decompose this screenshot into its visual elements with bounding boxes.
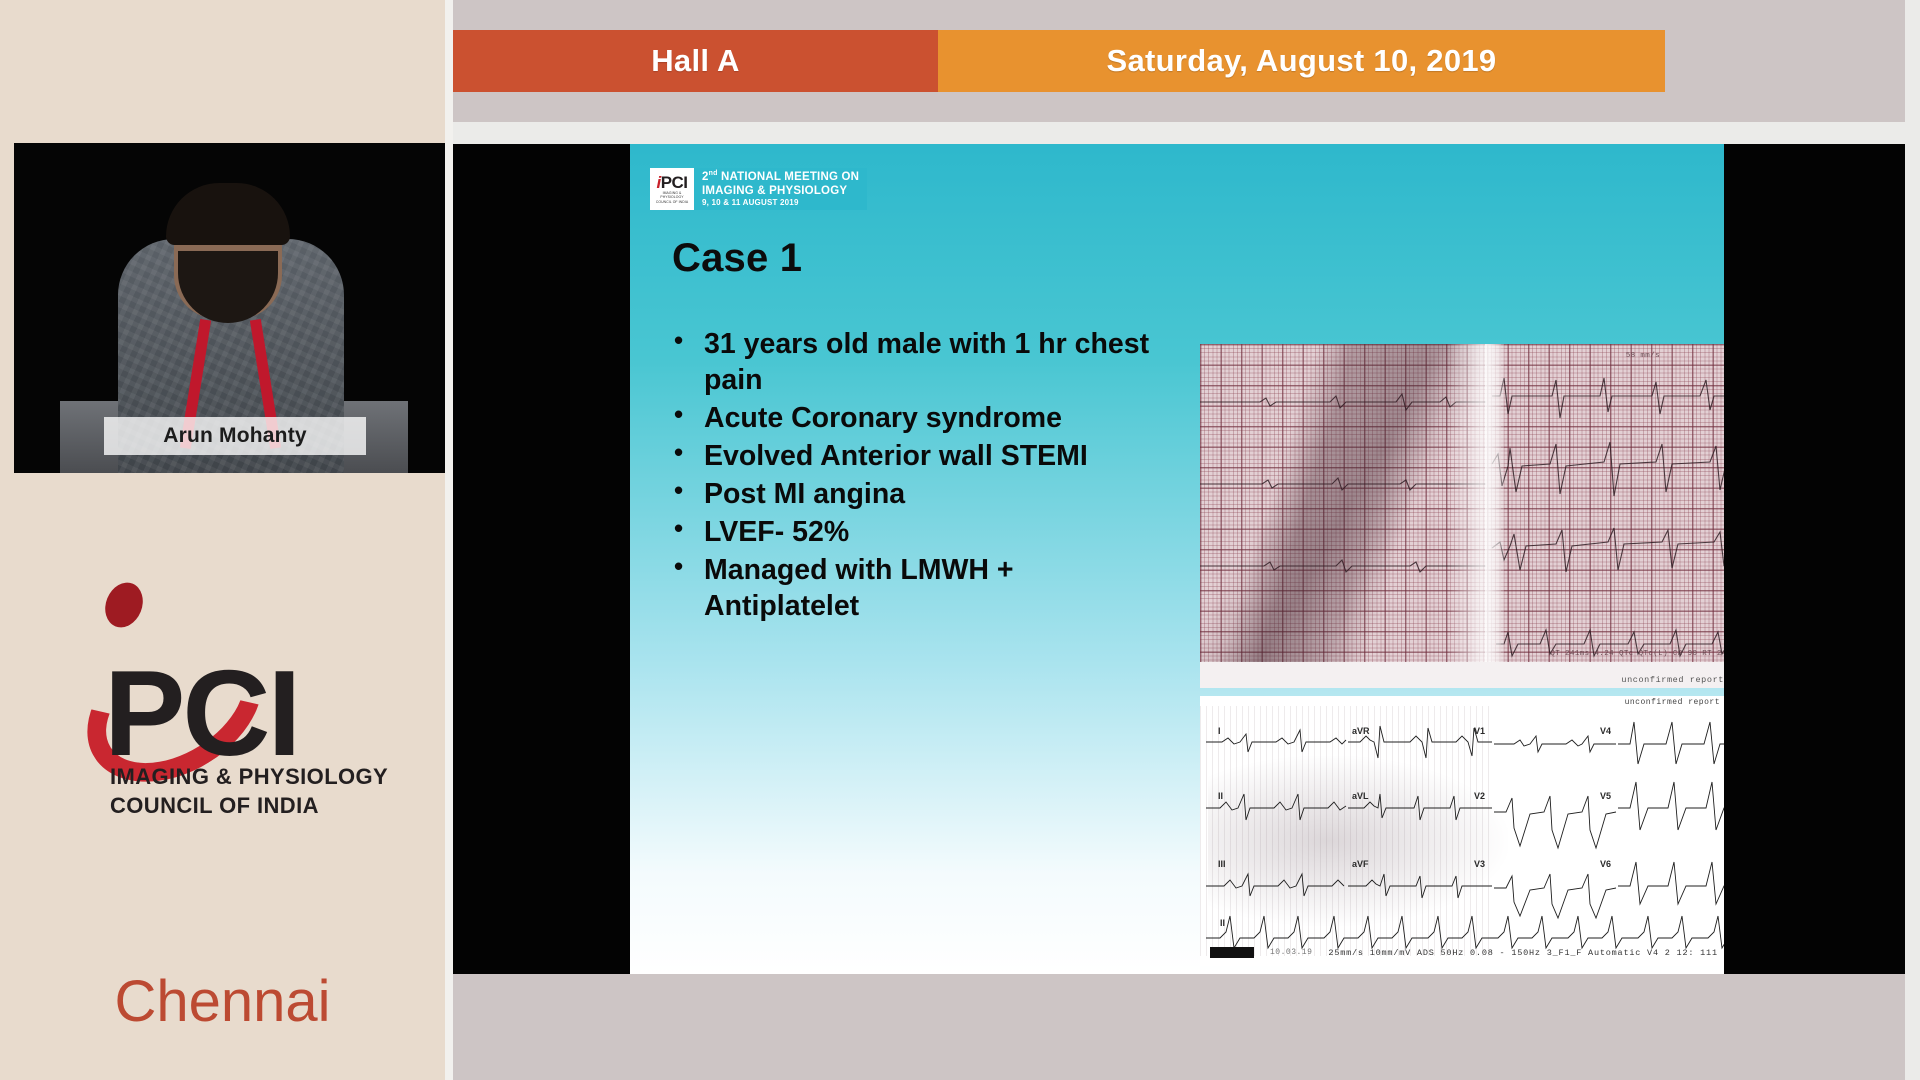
presentation-slide: iPCI IMAGING & PHYSIOLOGY COUNCIL OF IND… bbox=[630, 144, 1724, 974]
header-strip: Hall A Saturday, August 10, 2019 bbox=[453, 0, 1905, 122]
event-title-line3: 9, 10 & 11 AUGUST 2019 bbox=[702, 198, 859, 208]
list-item: Acute Coronary syndrome bbox=[668, 400, 1168, 436]
event-logo-banner: iPCI IMAGING & PHYSIOLOGY COUNCIL OF IND… bbox=[650, 168, 867, 210]
logo-wordmark-pci: PCI bbox=[104, 652, 298, 774]
ecg-meta-note: QT 241ms 4.24 QTc QTc(L)-CR 90 RT 241ms … bbox=[1550, 650, 1724, 658]
list-item: Evolved Anterior wall STEMI bbox=[668, 438, 1168, 474]
event-title-sup: nd bbox=[709, 170, 718, 177]
ecg-paper-crease-fold bbox=[1200, 344, 1460, 688]
event-logo-sub1: IMAGING & PHYSIOLOGY bbox=[652, 191, 692, 200]
logo-tagline-2: COUNCIL OF INDIA bbox=[110, 793, 319, 819]
event-title-ordinal: 2 bbox=[702, 171, 709, 183]
logo-i-dot-icon bbox=[99, 577, 150, 633]
ecg-printout-bottom: unconfirmed report I aVR V1 V4 II aVL V2… bbox=[1200, 696, 1724, 966]
slide-video-stage[interactable]: iPCI IMAGING & PHYSIOLOGY COUNCIL OF IND… bbox=[453, 144, 1905, 974]
city-label: Chennai bbox=[0, 968, 445, 1035]
footer-strip bbox=[453, 974, 1905, 1080]
list-item: LVEF- 52% bbox=[668, 514, 1168, 550]
ipci-logo: PCI IMAGING & PHYSIOLOGY COUNCIL OF INDI… bbox=[0, 560, 445, 860]
list-item: 31 years old male with 1 hr chest pain bbox=[668, 326, 1168, 398]
ecg-printout-settings: 25mm/s 10mm/mV ADS 50Hz 0.08 - 150Hz 3_F… bbox=[1328, 948, 1717, 958]
ipci-logo-mark: PCI IMAGING & PHYSIOLOGY COUNCIL OF INDI… bbox=[0, 560, 445, 772]
ecg-waveform-bottom bbox=[1200, 696, 1724, 966]
speaker-name: Arun Mohanty bbox=[163, 424, 307, 448]
calibration-bar-icon bbox=[1210, 947, 1254, 958]
list-item: Managed with LMWH + Antiplatelet bbox=[668, 552, 1168, 624]
ecg-photo-top: 58 mm/s QT 241ms 4.24 QTc QTc(L)-CR 90 R… bbox=[1200, 344, 1724, 688]
event-title-line1: 2nd NATIONAL MEETING ON bbox=[702, 170, 859, 184]
logo-tagline-1: IMAGING & PHYSIOLOGY bbox=[110, 764, 388, 790]
date-banner: Saturday, August 10, 2019 bbox=[938, 30, 1665, 92]
event-logo-wordmark: iPCI bbox=[656, 174, 687, 191]
speaker-nameplate: Arun Mohanty bbox=[104, 417, 366, 455]
ecg-printout-date: 10.03.19 bbox=[1270, 948, 1312, 957]
event-logo-sub2: COUNCIL OF INDIA bbox=[656, 200, 688, 204]
sidebar-divider bbox=[445, 0, 453, 1080]
date-label: Saturday, August 10, 2019 bbox=[1107, 43, 1497, 79]
branding-sidebar: Arun Mohanty PCI IMAGING & PHYSIOLOGY CO… bbox=[0, 0, 445, 1080]
ecg-unconfirmed-caption: unconfirmed report bbox=[1621, 675, 1724, 685]
ecg-rate-note: 58 mm/s bbox=[1626, 352, 1660, 360]
event-logo-pci: PCI bbox=[661, 173, 688, 192]
ecg-printout-footer: 10.03.19 25mm/s 10mm/mV ADS 50Hz 0.08 - … bbox=[1210, 947, 1718, 958]
event-logo-titles: 2nd NATIONAL MEETING ON IMAGING & PHYSIO… bbox=[694, 168, 867, 210]
list-item: Post MI angina bbox=[668, 476, 1168, 512]
ecg-paper-crease-vertical bbox=[1485, 344, 1501, 688]
hall-banner: Hall A bbox=[453, 30, 938, 92]
event-title-rest: NATIONAL MEETING ON bbox=[718, 171, 860, 183]
webcast-viewer: Arun Mohanty PCI IMAGING & PHYSIOLOGY CO… bbox=[0, 0, 1920, 1080]
slide-bullet-list: 31 years old male with 1 hr chest pain A… bbox=[668, 326, 1168, 626]
main-content-area: Hall A Saturday, August 10, 2019 iPCI IM… bbox=[453, 0, 1920, 1080]
speaker-video-feed[interactable]: Arun Mohanty bbox=[14, 143, 445, 473]
slide-title: Case 1 bbox=[672, 236, 802, 281]
event-logo-mark: iPCI IMAGING & PHYSIOLOGY COUNCIL OF IND… bbox=[650, 168, 694, 210]
event-title-line2: IMAGING & PHYSIOLOGY bbox=[702, 184, 859, 198]
hall-label: Hall A bbox=[651, 43, 740, 79]
